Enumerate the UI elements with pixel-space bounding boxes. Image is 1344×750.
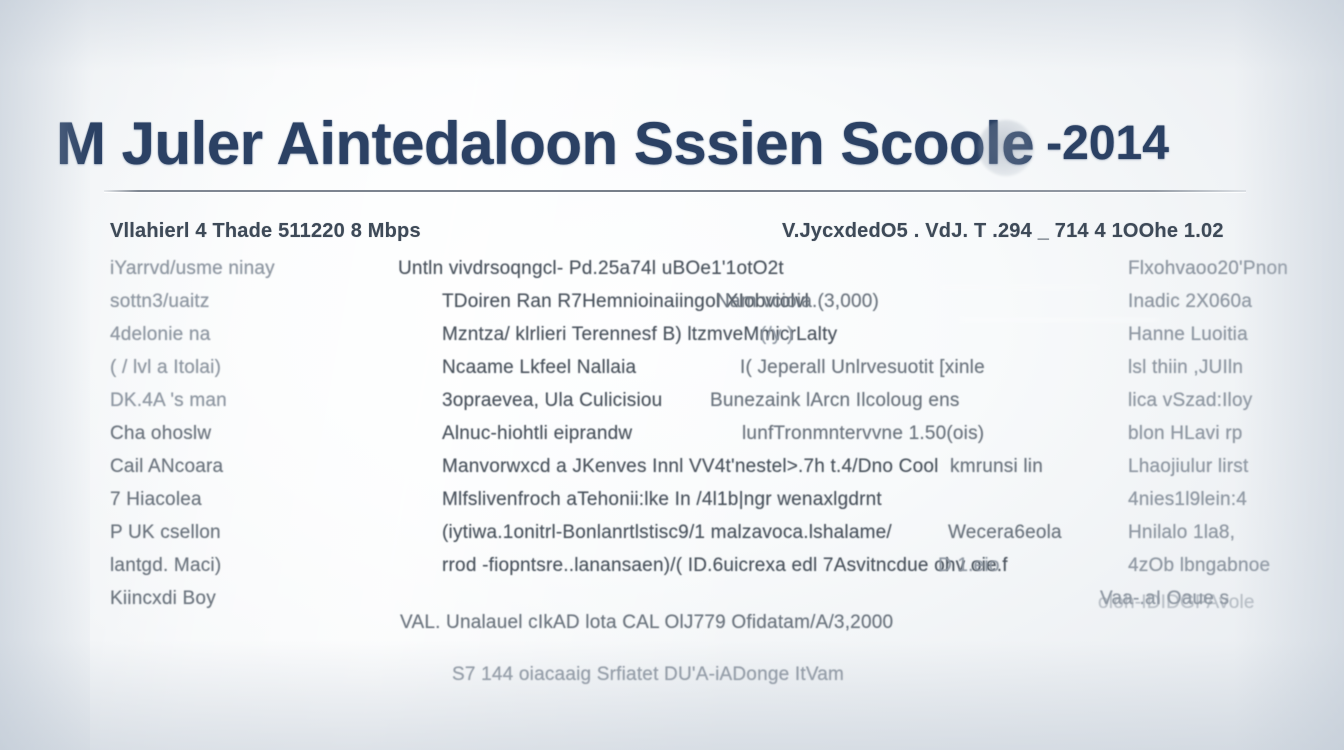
list-item: Hnilalo 1la8, [1128,522,1235,544]
list-item: lsl thiin ,JUIln [1128,357,1243,379]
footer-line-1: VAL. Unalauel cIkAD lota CAL OlJ779 Ofid… [400,612,893,634]
list-item: Cha ohoslw [110,423,211,445]
list-item: 4zOb lbngabnoe [1128,555,1270,577]
list-item: rrod -fiopntsre..lanansaen)/( ID.6uicrex… [442,555,1008,577]
list-item: (/y ) [760,324,794,346]
list-item: (iytiwa.1onitrl-Bonlanrtlstisc9/1 malzav… [442,522,892,544]
list-item: Ncaame Lkfeel Nallaia [442,357,636,379]
list-item: D 1.eio [938,555,1000,577]
list-item: I( Jeperall Unlrvesuotit [xinle [740,357,985,379]
list-item: ( / lvl a Itolai) [110,357,221,379]
list-item: Cail ANcoara [110,456,223,478]
list-item: Nam vcioia.(3,000) [716,291,879,313]
list-item: sottn3/uaitz [110,291,210,313]
list-item: blon HLavi rp [1128,423,1243,445]
page-title-main: M Juler Aintedaloon Sssien Scoole [56,109,1034,178]
list-item: lunfTronmntervvne 1.50(ois) [742,423,984,445]
list-item: lantgd. Maci) [110,555,221,577]
footer-line-2: S7 144 oiacaaig Srfiatet DU'A-iADonge It… [452,664,844,686]
list-item: DK.4A 's man [110,390,227,412]
list-item: oloh-IDIDGPAvole [1098,592,1255,614]
list-item: 4delonie na [110,324,210,346]
header-left: Vllahierl 4 Thade 511220 8 Mbps [110,220,421,243]
list-item: Lhaojiulur lirst [1128,456,1248,478]
list-item: 4nies1l9lein:4 [1128,489,1247,511]
document-body: Vllahierl 4 Thade 511220 8 Mbps V.Jycxde… [0,214,1344,714]
list-item: P UK csellon [110,522,221,544]
header-right: V.JycxdedO5 . VdJ. T .294 _ 714 4 1OOhe … [782,220,1224,243]
page-title: M Juler Aintedaloon Sssien Scoole -2014 [56,100,1296,186]
title-divider [104,190,1246,192]
list-item: Flxohvaoo20'Pnon [1128,258,1288,280]
list-item: Hanne Luoitia [1128,324,1248,346]
list-item: Alnuc-hiohtli eiprandw [442,423,632,445]
list-item: kmrunsi lin [950,456,1043,478]
list-item: iYarrvd/usme ninay [110,258,275,280]
list-item: Kiincxdi Boy [110,588,216,610]
list-item: 3opraevea, Ula Culicisiou [442,390,662,412]
list-item: lica vSzad:Iloy [1128,390,1252,412]
list-item: Untln vivdrsoqngcl- Pd.25a74l uBOe1'1otO… [398,258,784,280]
list-item: Wecera6eola [948,522,1062,544]
list-item: 7 Hiacolea [110,489,202,511]
page-title-year: -2014 [1046,116,1169,171]
document-page: M Juler Aintedaloon Sssien Scoole -2014 … [0,0,1344,750]
list-item: Bunezaink lArcn Ilcoloug ens [710,390,960,412]
list-item: Mlfslivenfroch aTehonii:lke In /4l1b|ngr… [442,489,882,511]
list-item: Inadic 2X060a [1128,291,1252,313]
list-item: Manvorwxcd a JKenves Innl VV4t'nestel>.7… [442,456,939,478]
